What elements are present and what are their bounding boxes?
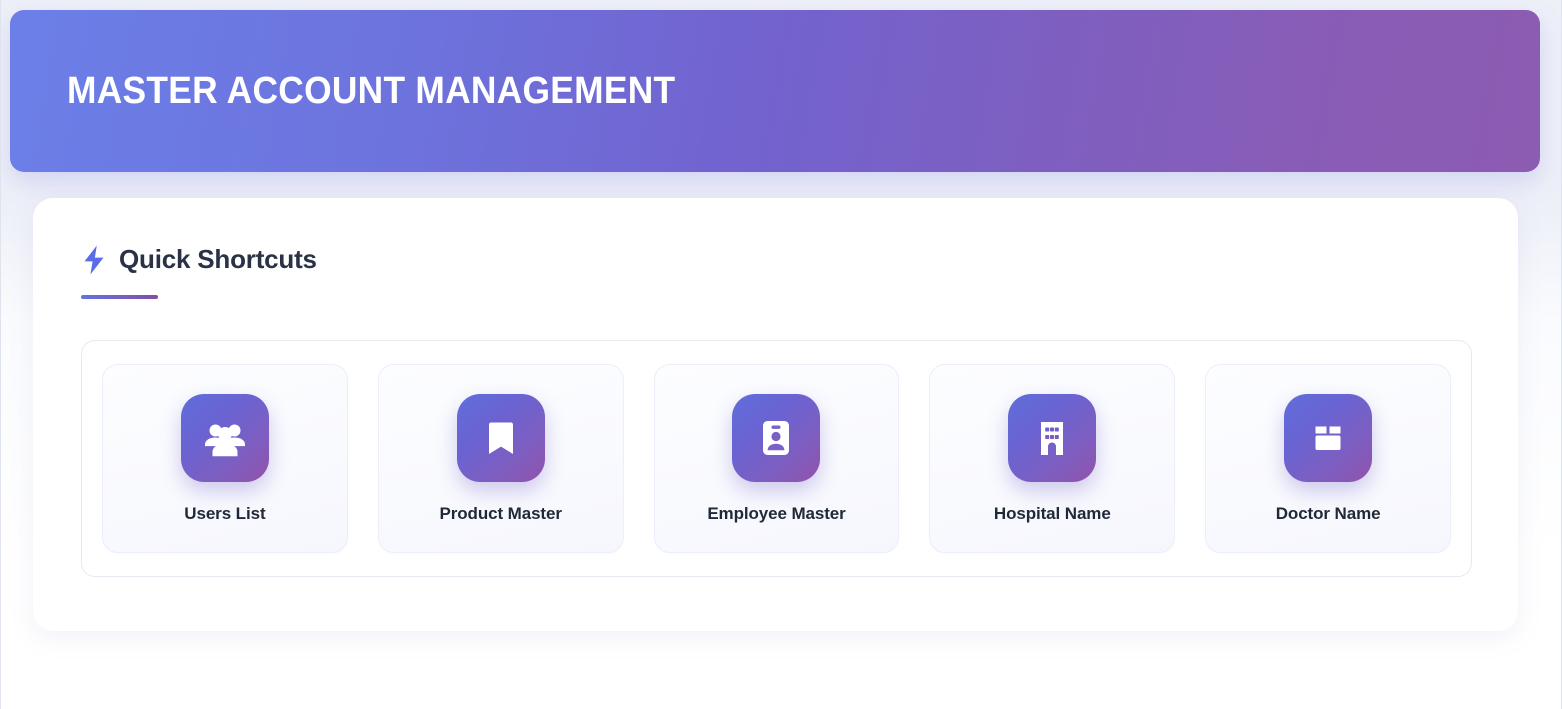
- users-group-icon: [181, 394, 269, 482]
- lightning-bolt-icon: [81, 245, 107, 275]
- page-header-banner: MASTER ACCOUNT MANAGEMENT: [10, 10, 1540, 172]
- main-content-card: Quick Shortcuts Users List: [33, 198, 1518, 631]
- quick-shortcuts-container: Users List Product Master: [81, 340, 1472, 577]
- page-title: MASTER ACCOUNT MANAGEMENT: [67, 70, 675, 113]
- page-root: MASTER ACCOUNT MANAGEMENT Quick Shortcut…: [0, 0, 1562, 709]
- building-icon: [1008, 394, 1096, 482]
- section-title-underline: [81, 295, 158, 299]
- shortcut-label: Doctor Name: [1276, 504, 1381, 524]
- shortcut-card-product-master[interactable]: Product Master: [378, 364, 624, 553]
- bookmark-icon: [457, 394, 545, 482]
- shortcut-card-users-list[interactable]: Users List: [102, 364, 348, 553]
- quick-shortcuts-heading: Quick Shortcuts: [81, 244, 317, 275]
- shortcut-label: Employee Master: [707, 504, 845, 524]
- shortcut-card-hospital-name[interactable]: Hospital Name: [929, 364, 1175, 553]
- shortcut-label: Users List: [184, 504, 265, 524]
- shortcut-card-employee-master[interactable]: Employee Master: [654, 364, 900, 553]
- section-title: Quick Shortcuts: [119, 244, 317, 275]
- id-badge-icon: [732, 394, 820, 482]
- shortcut-label: Hospital Name: [994, 504, 1111, 524]
- shortcut-card-doctor-name[interactable]: Doctor Name: [1205, 364, 1451, 553]
- shortcut-label: Product Master: [440, 504, 562, 524]
- box-package-icon: [1284, 394, 1372, 482]
